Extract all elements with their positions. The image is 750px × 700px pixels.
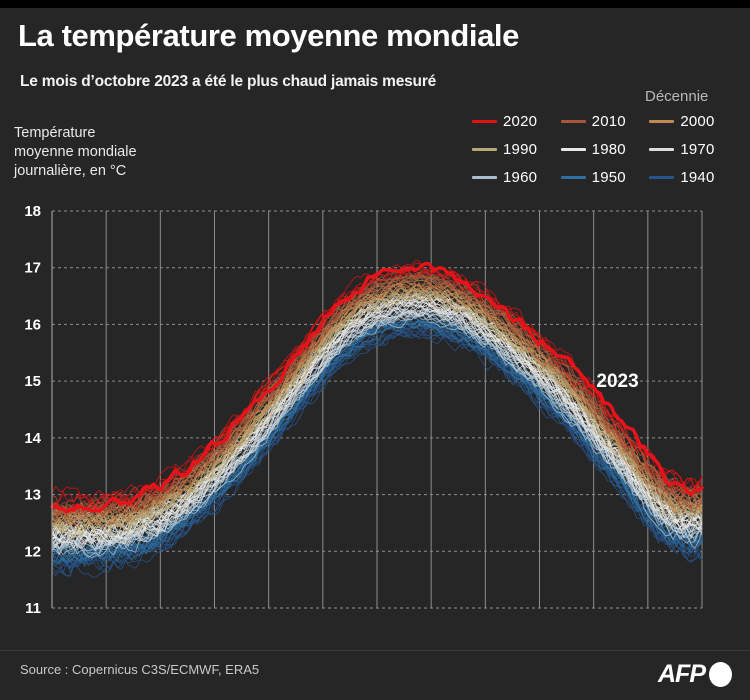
y-tick-label: 11 [25,600,41,617]
infographic-root: La température moyenne mondiale Le mois … [0,0,750,700]
legend-label: 1970 [680,141,714,158]
legend-swatch-icon-1970 [649,148,674,151]
legend-title: Décennie [645,88,708,105]
chart-annotations: 2023 [596,371,638,392]
y-axis-caption-line-0: Température [14,124,244,143]
legend-label: 1950 [592,169,626,186]
afp-logo-dot [709,662,732,687]
y-tick-label: 13 [24,487,41,504]
legend-item-1960[interactable]: 1960 [472,169,561,186]
chart-svg: 1112131415161718JanFévMarAvrMaiJuinJuilA… [0,195,750,620]
legend-swatch-icon-1980 [561,148,586,151]
annotation-2023: 2023 [596,371,638,392]
afp-logo: AFP [658,660,732,688]
legend-swatch-icon-1990 [472,148,497,151]
top-black-bar [0,0,750,8]
legend-label: 1960 [503,169,537,186]
y-tick-label: 15 [24,373,41,390]
legend-item-1950[interactable]: 1950 [561,169,650,186]
legend-swatch-icon-1950 [561,176,586,179]
y-tick-label: 12 [24,543,41,560]
legend-swatch-icon-2010 [561,120,586,123]
legend-swatch-icon-1960 [472,176,497,179]
legend-item-2010[interactable]: 2010 [561,113,650,130]
source-credit: Source : Copernicus C3S/ECMWF, ERA5 [20,662,259,677]
decade-legend: 202020102000199019801970196019501940 [472,113,738,186]
legend-swatch-icon-2020 [472,120,497,123]
y-tick-label: 16 [24,316,41,333]
legend-item-2020[interactable]: 2020 [472,113,561,130]
y-tick-label: 17 [24,260,41,277]
afp-logo-text: AFP [658,660,705,689]
y-tick-label: 14 [24,430,41,447]
footer-divider [0,650,750,651]
y-tick-labels: 1112131415161718 [24,203,41,617]
legend-label: 1980 [592,141,626,158]
legend-label: 1990 [503,141,537,158]
y-axis-caption: Températuremoyenne mondialejournalière, … [14,124,244,181]
page-subtitle: Le mois d’octobre 2023 a été le plus cha… [20,73,640,91]
legend-item-2000[interactable]: 2000 [649,113,738,130]
legend-label: 2020 [503,113,537,130]
legend-item-1990[interactable]: 1990 [472,141,561,158]
legend-item-1970[interactable]: 1970 [649,141,738,158]
legend-item-1980[interactable]: 1980 [561,141,650,158]
page-title: La température moyenne mondiale [18,18,718,54]
legend-swatch-icon-1940 [649,176,674,179]
temperature-chart: 1112131415161718JanFévMarAvrMaiJuinJuilA… [0,195,750,620]
legend-label: 2000 [680,113,714,130]
legend-label: 1940 [680,169,714,186]
y-axis-caption-line-1: moyenne mondiale [14,143,244,162]
y-tick-label: 18 [24,203,41,220]
legend-swatch-icon-2000 [649,120,674,123]
y-axis-caption-line-2: journalière, en °C [14,162,244,181]
legend-label: 2010 [592,113,626,130]
legend-item-1940[interactable]: 1940 [649,169,738,186]
